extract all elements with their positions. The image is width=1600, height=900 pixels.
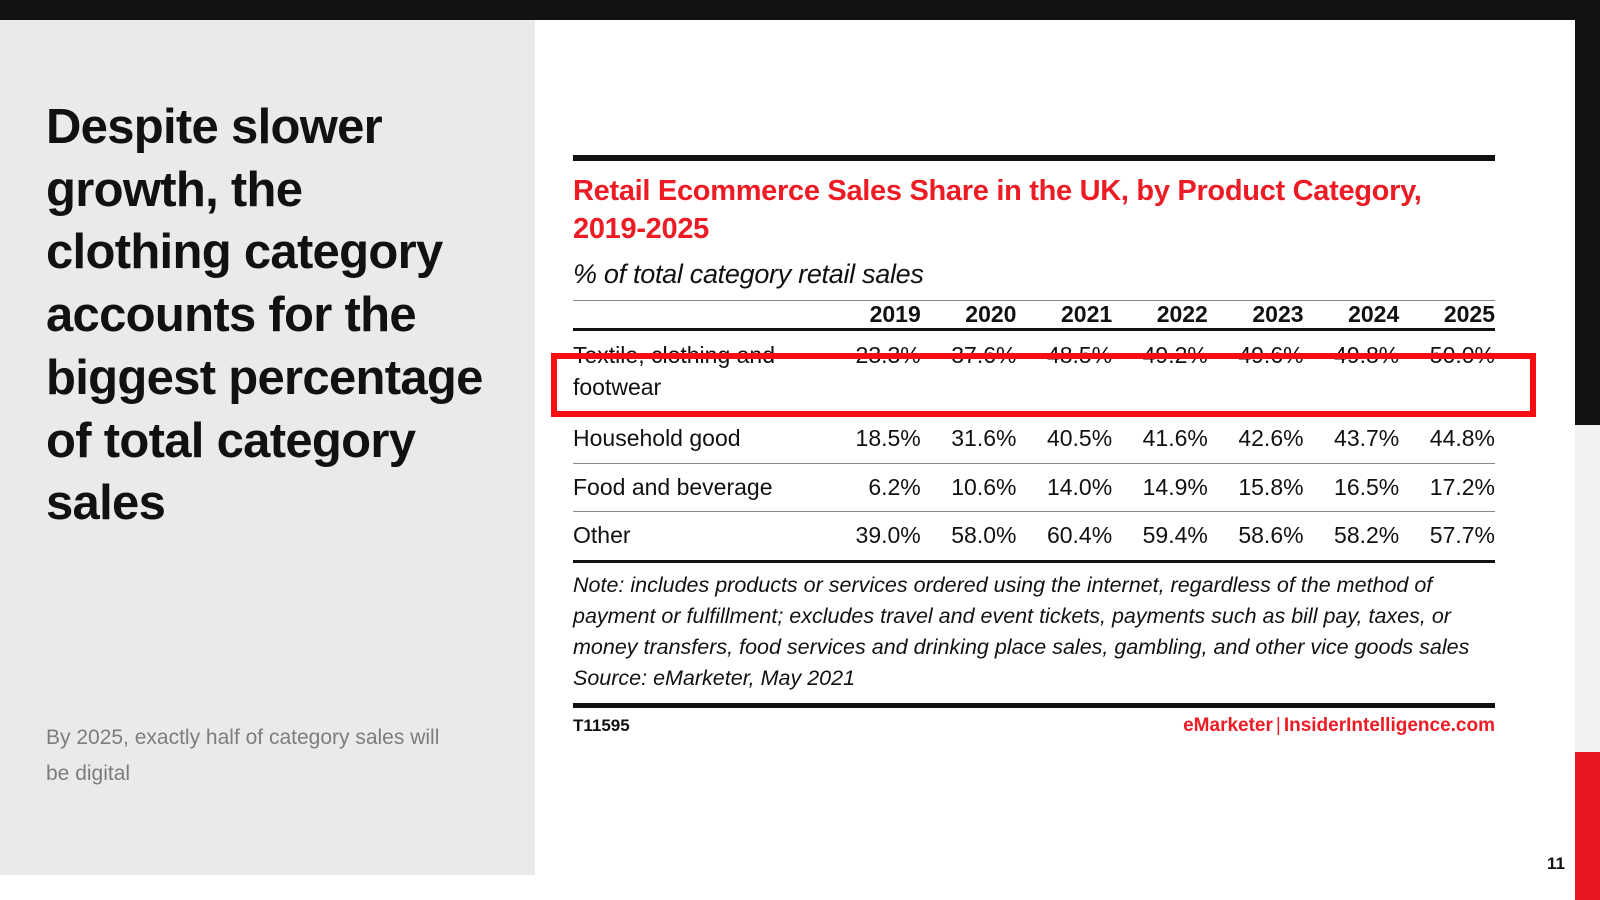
column-header-2020: 2020 — [921, 301, 1017, 328]
chart-note: Note: includes products or services orde… — [573, 570, 1495, 663]
cell-food-2023: 15.8% — [1208, 463, 1304, 512]
cell-other-2025: 57.7% — [1399, 512, 1495, 560]
table-row: Food and beverage 6.2% 10.6% 14.0% 14.9%… — [573, 463, 1495, 512]
cell-other-2020: 58.0% — [921, 512, 1017, 560]
table-header-row: 2019 2020 2021 2022 2023 2024 2025 — [573, 301, 1495, 328]
row-label-other: Other — [573, 512, 825, 560]
cell-other-2022: 59.4% — [1112, 512, 1208, 560]
data-table-body: Textile, clothing and footwear 23.3% 37.… — [573, 331, 1495, 560]
brand-insiderintelligence: InsiderIntelligence.com — [1284, 715, 1495, 736]
page-number: 11 — [1547, 854, 1565, 874]
slide-headline: Despite slower growth, the clothing cate… — [46, 96, 498, 535]
right-edge-gray-bar — [1575, 425, 1600, 752]
cell-textile-2025: 50.0% — [1399, 331, 1495, 414]
right-edge-black-bar — [1575, 0, 1600, 425]
brand-separator: | — [1273, 715, 1284, 736]
cell-other-2021: 60.4% — [1016, 512, 1112, 560]
column-header-2023: 2023 — [1208, 301, 1304, 328]
chart-top-rule — [573, 155, 1495, 161]
cell-textile-2019: 23.3% — [825, 331, 921, 414]
chart-subtitle: % of total category retail sales — [573, 259, 1495, 290]
cell-food-2019: 6.2% — [825, 463, 921, 512]
slide-subtext: By 2025, exactly half of category sales … — [46, 720, 446, 792]
column-header-2022: 2022 — [1112, 301, 1208, 328]
cell-textile-2021: 48.5% — [1016, 331, 1112, 414]
chart-title: Retail Ecommerce Sales Share in the UK, … — [573, 173, 1495, 248]
table-row: Household good 18.5% 31.6% 40.5% 41.6% 4… — [573, 415, 1495, 463]
cell-food-2022: 14.9% — [1112, 463, 1208, 512]
column-header-category — [573, 301, 825, 328]
column-header-2019: 2019 — [825, 301, 921, 328]
cell-household-2019: 18.5% — [825, 415, 921, 463]
column-header-2024: 2024 — [1304, 301, 1400, 328]
note-separator-rule — [573, 560, 1495, 563]
cell-household-2024: 43.7% — [1304, 415, 1400, 463]
brand-lockup: eMarketer|InsiderIntelligence.com — [1183, 715, 1495, 737]
cell-other-2024: 58.2% — [1304, 512, 1400, 560]
data-table-wrapper: 2019 2020 2021 2022 2023 2024 2025 Texti… — [573, 301, 1495, 560]
cell-textile-2024: 49.8% — [1304, 331, 1400, 414]
chart-footer: T11595 eMarketer|InsiderIntelligence.com — [573, 715, 1495, 737]
column-header-2021: 2021 — [1016, 301, 1112, 328]
table-head: 2019 2020 2021 2022 2023 2024 2025 — [573, 301, 1495, 328]
top-black-band — [0, 0, 1600, 20]
column-header-2025: 2025 — [1399, 301, 1495, 328]
cell-food-2025: 17.2% — [1399, 463, 1495, 512]
cell-other-2023: 58.6% — [1208, 512, 1304, 560]
cell-household-2025: 44.8% — [1399, 415, 1495, 463]
row-label-household: Household good — [573, 415, 825, 463]
chart-source: Source: eMarketer, May 2021 — [573, 663, 1495, 694]
row-label-textile: Textile, clothing and footwear — [573, 331, 825, 414]
cell-household-2021: 40.5% — [1016, 415, 1112, 463]
cell-other-2019: 39.0% — [825, 512, 921, 560]
cell-textile-2020: 37.6% — [921, 331, 1017, 414]
cell-textile-2022: 49.2% — [1112, 331, 1208, 414]
cell-household-2022: 41.6% — [1112, 415, 1208, 463]
table-row: Other 39.0% 58.0% 60.4% 59.4% 58.6% 58.2… — [573, 512, 1495, 560]
cell-food-2020: 10.6% — [921, 463, 1017, 512]
cell-household-2023: 42.6% — [1208, 415, 1304, 463]
cell-textile-2023: 49.6% — [1208, 331, 1304, 414]
chart-card: Retail Ecommerce Sales Share in the UK, … — [573, 155, 1495, 737]
cell-household-2020: 31.6% — [921, 415, 1017, 463]
left-panel: Despite slower growth, the clothing cate… — [0, 20, 535, 875]
chart-id: T11595 — [573, 716, 630, 736]
data-table: 2019 2020 2021 2022 2023 2024 2025 — [573, 301, 1495, 328]
footer-rule — [573, 703, 1495, 708]
row-label-food: Food and beverage — [573, 463, 825, 512]
cell-food-2024: 16.5% — [1304, 463, 1400, 512]
right-edge-red-bar — [1575, 752, 1600, 900]
table-row: Textile, clothing and footwear 23.3% 37.… — [573, 331, 1495, 414]
cell-food-2021: 14.0% — [1016, 463, 1112, 512]
brand-emarketer: eMarketer — [1183, 715, 1273, 736]
